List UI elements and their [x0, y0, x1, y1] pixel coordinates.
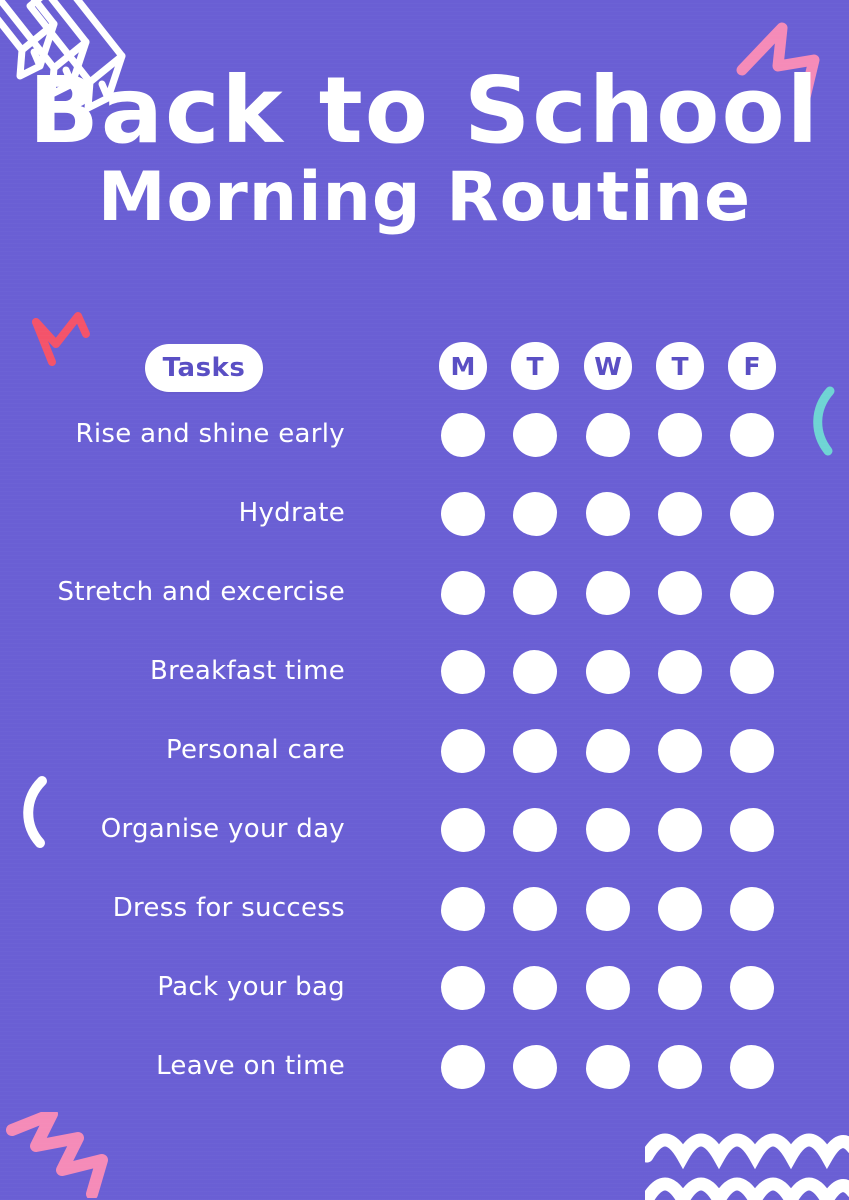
task-label: Pack your bag	[0, 965, 345, 1009]
day-header-tuesday: T	[511, 342, 559, 390]
checkbox-wednesday[interactable]	[586, 966, 630, 1010]
checkbox-friday[interactable]	[730, 650, 774, 694]
checkbox-wednesday[interactable]	[586, 571, 630, 615]
checkbox-monday[interactable]	[441, 808, 485, 852]
page-subtitle: Morning Routine	[0, 162, 849, 233]
checkbox-thursday[interactable]	[658, 413, 702, 457]
checkbox-tuesday[interactable]	[513, 492, 557, 536]
checkbox-wednesday[interactable]	[586, 650, 630, 694]
checkbox-tuesday[interactable]	[513, 1045, 557, 1089]
day-header-wednesday: W	[584, 342, 632, 390]
day-header-thursday: T	[656, 342, 704, 390]
checkbox-monday[interactable]	[441, 650, 485, 694]
checkbox-thursday[interactable]	[658, 887, 702, 931]
checkbox-monday[interactable]	[441, 571, 485, 615]
checkbox-friday[interactable]	[730, 571, 774, 615]
checkbox-friday[interactable]	[730, 808, 774, 852]
routine-checklist-table: Tasks MTWTF Rise and shine earlyHydrateS…	[0, 340, 849, 1113]
checkbox-friday[interactable]	[730, 413, 774, 457]
checkbox-monday[interactable]	[441, 492, 485, 536]
checkbox-tuesday[interactable]	[513, 729, 557, 773]
checkbox-monday[interactable]	[441, 413, 485, 457]
day-header-letter: M	[451, 354, 476, 379]
checkbox-friday[interactable]	[730, 966, 774, 1010]
checkbox-wednesday[interactable]	[586, 413, 630, 457]
checkbox-thursday[interactable]	[658, 729, 702, 773]
checkbox-friday[interactable]	[730, 887, 774, 931]
checkbox-wednesday[interactable]	[586, 492, 630, 536]
checkbox-thursday[interactable]	[658, 571, 702, 615]
table-row: Hydrate	[0, 481, 849, 560]
checkbox-monday[interactable]	[441, 1045, 485, 1089]
task-label: Stretch and excercise	[0, 570, 345, 614]
checkbox-tuesday[interactable]	[513, 650, 557, 694]
checkbox-thursday[interactable]	[658, 650, 702, 694]
table-row: Dress for success	[0, 876, 849, 955]
checkbox-wednesday[interactable]	[586, 808, 630, 852]
table-row: Personal care	[0, 718, 849, 797]
checkbox-monday[interactable]	[441, 729, 485, 773]
checkbox-friday[interactable]	[730, 492, 774, 536]
table-header-row: Tasks MTWTF	[0, 340, 849, 402]
day-header-letter: T	[671, 354, 688, 379]
day-header-letter: W	[594, 354, 622, 379]
task-label: Hydrate	[0, 491, 345, 535]
checkbox-wednesday[interactable]	[586, 887, 630, 931]
table-row: Breakfast time	[0, 639, 849, 718]
task-label: Organise your day	[0, 807, 345, 851]
table-row: Pack your bag	[0, 955, 849, 1034]
checkbox-friday[interactable]	[730, 1045, 774, 1089]
checkbox-wednesday[interactable]	[586, 729, 630, 773]
tasks-header-badge: Tasks	[145, 344, 263, 392]
checkbox-tuesday[interactable]	[513, 571, 557, 615]
table-row: Rise and shine early	[0, 402, 849, 481]
day-header-monday: M	[439, 342, 487, 390]
checkbox-thursday[interactable]	[658, 492, 702, 536]
table-row: Stretch and excercise	[0, 560, 849, 639]
table-row: Organise your day	[0, 797, 849, 876]
pink-zigzag-bottom-left-icon	[6, 1112, 134, 1198]
task-label: Rise and shine early	[0, 412, 345, 456]
task-label: Dress for success	[0, 886, 345, 930]
checkbox-thursday[interactable]	[658, 808, 702, 852]
checkbox-tuesday[interactable]	[513, 966, 557, 1010]
table-row: Leave on time	[0, 1034, 849, 1113]
checkbox-monday[interactable]	[441, 966, 485, 1010]
day-header-letter: T	[526, 354, 543, 379]
morning-routine-poster: Back to School Morning Routine Tasks MTW…	[0, 0, 849, 1200]
page-title: Back to School	[0, 64, 849, 158]
task-label: Leave on time	[0, 1044, 345, 1088]
checkbox-wednesday[interactable]	[586, 1045, 630, 1089]
poster-header: Back to School Morning Routine	[0, 64, 849, 233]
checkbox-tuesday[interactable]	[513, 808, 557, 852]
checkbox-thursday[interactable]	[658, 966, 702, 1010]
tasks-header-label: Tasks	[163, 353, 246, 383]
task-label: Breakfast time	[0, 649, 345, 693]
day-header-letter: F	[743, 354, 760, 379]
checkbox-thursday[interactable]	[658, 1045, 702, 1089]
white-waves-bottom-right-icon	[645, 1126, 849, 1200]
task-label: Personal care	[0, 728, 345, 772]
checkbox-tuesday[interactable]	[513, 413, 557, 457]
checkbox-friday[interactable]	[730, 729, 774, 773]
day-header-friday: F	[728, 342, 776, 390]
checkbox-tuesday[interactable]	[513, 887, 557, 931]
checkbox-monday[interactable]	[441, 887, 485, 931]
